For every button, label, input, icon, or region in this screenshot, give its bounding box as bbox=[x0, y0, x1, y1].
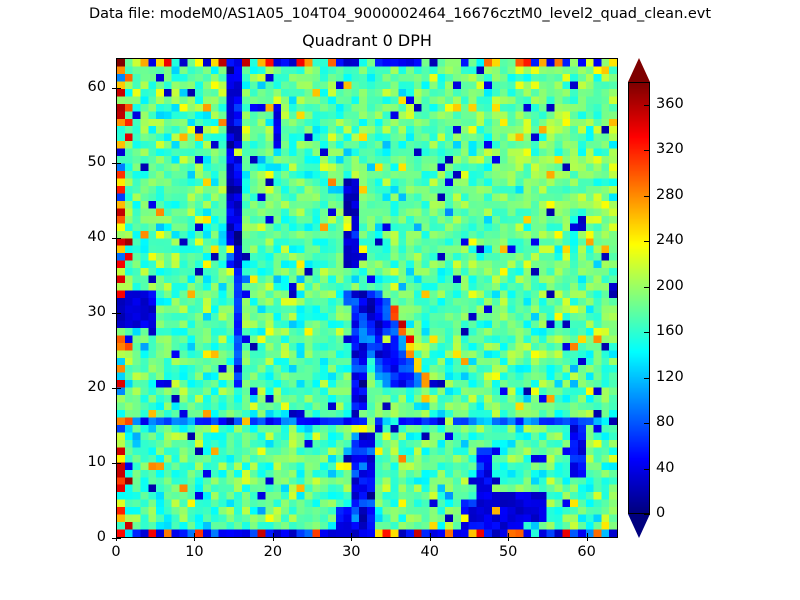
colorbar-tick-label: 360 bbox=[656, 96, 684, 112]
x-tick-mark-inner bbox=[194, 533, 195, 537]
x-tick-label: 50 bbox=[478, 544, 538, 560]
colorbar-extend-max-arrow bbox=[628, 58, 650, 82]
colorbar-tick-label: 40 bbox=[656, 460, 674, 476]
colorbar-tick-mark bbox=[644, 150, 650, 151]
y-tick-mark bbox=[112, 163, 116, 164]
x-tick-mark bbox=[430, 537, 431, 541]
y-tick-mark-inner bbox=[117, 463, 121, 464]
colorbar-tick-label: 160 bbox=[656, 323, 684, 339]
colorbar-tick-mark bbox=[644, 196, 650, 197]
y-tick-mark bbox=[112, 388, 116, 389]
y-tick-label: 40 bbox=[62, 229, 106, 245]
heatmap-axes[interactable] bbox=[116, 58, 618, 538]
x-tick-mark-inner bbox=[116, 533, 117, 537]
x-tick-mark-inner bbox=[351, 533, 352, 537]
colorbar-tick-mark bbox=[644, 423, 650, 424]
y-tick-label: 20 bbox=[62, 379, 106, 395]
colorbar-tick-mark bbox=[644, 332, 650, 333]
y-tick-mark bbox=[112, 463, 116, 464]
y-tick-mark bbox=[112, 313, 116, 314]
y-tick-mark-inner bbox=[117, 538, 121, 539]
x-tick-mark-inner bbox=[273, 533, 274, 537]
y-tick-mark bbox=[112, 88, 116, 89]
y-tick-mark-inner bbox=[117, 163, 121, 164]
colorbar-tick-mark bbox=[644, 514, 650, 515]
colorbar[interactable] bbox=[628, 58, 650, 538]
y-tick-label: 10 bbox=[62, 454, 106, 470]
y-tick-mark bbox=[112, 238, 116, 239]
x-tick-mark-inner bbox=[587, 533, 588, 537]
detector-heatmap-image[interactable] bbox=[117, 59, 617, 537]
x-tick-label: 40 bbox=[400, 544, 460, 560]
axes-title: Quadrant 0 DPH bbox=[116, 31, 618, 50]
colorbar-extend-min-arrow bbox=[628, 514, 650, 538]
colorbar-tick-mark bbox=[644, 469, 650, 470]
x-tick-label: 60 bbox=[557, 544, 617, 560]
y-tick-mark-inner bbox=[117, 88, 121, 89]
y-tick-mark-inner bbox=[117, 238, 121, 239]
x-tick-label: 10 bbox=[164, 544, 224, 560]
x-tick-label: 30 bbox=[321, 544, 381, 560]
colorbar-body[interactable] bbox=[628, 82, 650, 514]
colorbar-tick-label: 0 bbox=[656, 505, 665, 521]
colorbar-tick-mark bbox=[644, 378, 650, 379]
colorbar-tick-label: 80 bbox=[656, 414, 674, 430]
colorbar-tick-label: 240 bbox=[656, 232, 684, 248]
x-tick-mark-inner bbox=[508, 533, 509, 537]
y-tick-mark-inner bbox=[117, 313, 121, 314]
colorbar-tick-mark bbox=[644, 287, 650, 288]
x-tick-mark bbox=[587, 537, 588, 541]
figure-canvas: Data file: modeM0/AS1A05_104T04_90000024… bbox=[0, 0, 800, 600]
x-tick-mark bbox=[273, 537, 274, 541]
x-tick-label: 20 bbox=[243, 544, 303, 560]
x-tick-mark bbox=[194, 537, 195, 541]
y-tick-mark bbox=[112, 538, 116, 539]
y-tick-label: 60 bbox=[62, 79, 106, 95]
x-tick-label: 0 bbox=[86, 544, 146, 560]
colorbar-tick-label: 280 bbox=[656, 187, 684, 203]
x-tick-mark bbox=[508, 537, 509, 541]
colorbar-tick-label: 320 bbox=[656, 141, 684, 157]
colorbar-tick-label: 120 bbox=[656, 369, 684, 385]
y-tick-label: 0 bbox=[62, 529, 106, 545]
y-tick-label: 50 bbox=[62, 154, 106, 170]
y-tick-mark-inner bbox=[117, 388, 121, 389]
colorbar-gradient bbox=[629, 83, 649, 513]
colorbar-tick-label: 200 bbox=[656, 278, 684, 294]
colorbar-tick-mark bbox=[644, 105, 650, 106]
x-tick-mark bbox=[351, 537, 352, 541]
colorbar-tick-mark bbox=[644, 241, 650, 242]
x-tick-mark-inner bbox=[430, 533, 431, 537]
y-tick-label: 30 bbox=[62, 304, 106, 320]
figure-suptitle: Data file: modeM0/AS1A05_104T04_90000024… bbox=[0, 6, 800, 22]
